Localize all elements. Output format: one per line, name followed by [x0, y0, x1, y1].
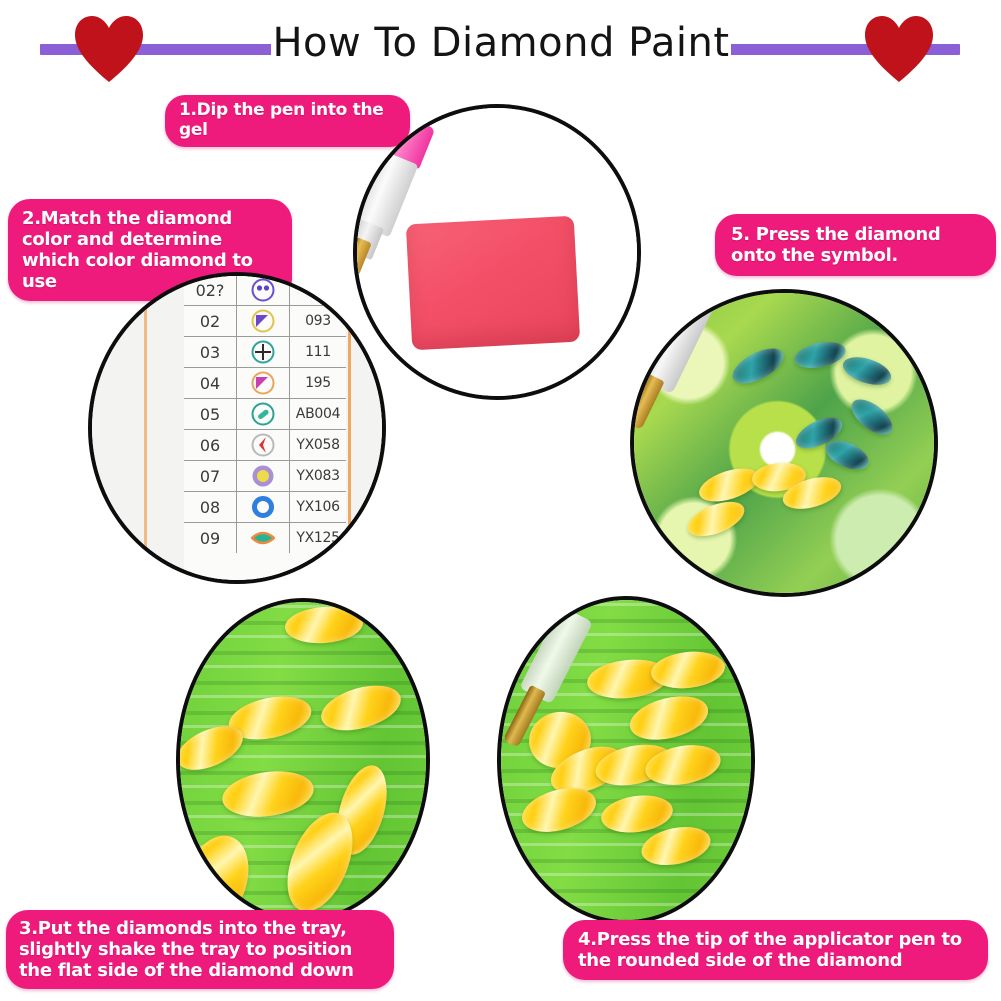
color-chart-row: 02?028 — [184, 274, 346, 305]
open-ring-symbol — [237, 492, 290, 522]
chart-number: 08 — [184, 492, 237, 522]
step-2-photo: 02?02802093031110419505AB00406YX05807YX0… — [88, 272, 386, 584]
chart-code: YX083 — [290, 468, 346, 484]
chart-code: 195 — [290, 375, 346, 391]
chart-number: 07 — [184, 461, 237, 491]
heart-icon — [72, 14, 146, 84]
step-5-photo — [630, 289, 938, 597]
chart-code: 093 — [290, 313, 346, 329]
chart-code: 028 — [290, 282, 346, 298]
chart-code: YX106 — [290, 499, 346, 515]
infographic-canvas: How To Diamond Paint 1.Dip the pen into … — [0, 0, 1001, 1001]
left-arrow-symbol — [237, 430, 290, 460]
gel-pad — [406, 216, 580, 351]
color-chart-row: 02093 — [184, 305, 346, 336]
plus-cross-symbol — [237, 337, 290, 367]
step-1-photo — [353, 104, 641, 400]
chart-code: AB004 — [290, 406, 346, 422]
chart-number: 02 — [184, 306, 237, 336]
chart-code: 111 — [290, 344, 346, 360]
page-title: How To Diamond Paint — [271, 18, 731, 68]
filled-dot-symbol — [237, 461, 290, 491]
color-chart-row: 03111 — [184, 336, 346, 367]
chart-number: 05 — [184, 399, 237, 429]
chart-number: 02? — [184, 275, 237, 305]
step-4-photo — [497, 596, 755, 924]
heart-icon — [862, 14, 936, 84]
chart-number: 09 — [184, 523, 237, 553]
chart-code: YX058 — [290, 437, 346, 453]
step-3-photo — [176, 598, 430, 922]
diagonal-capsule-symbol — [237, 399, 290, 429]
step-4-label: 4.Press the tip of the applicator pen to… — [563, 920, 988, 980]
color-chart-row: 06YX058 — [184, 429, 346, 460]
quarter-triangle-symbol — [237, 368, 290, 398]
color-chart-row: 07YX083 — [184, 460, 346, 491]
step-5-label: 5. Press the diamond onto the symbol. — [715, 214, 996, 276]
color-chart-row: 04195 — [184, 367, 346, 398]
color-chart-row: 09YX125 — [184, 522, 346, 553]
quarter-triangle-symbol — [237, 306, 290, 336]
color-chart-row: 08YX106 — [184, 491, 346, 522]
leaf-lens-symbol — [237, 523, 290, 553]
double-dot-circle-symbol — [237, 275, 290, 305]
chart-number: 03 — [184, 337, 237, 367]
chart-number: 06 — [184, 430, 237, 460]
color-chart-row: 05AB004 — [184, 398, 346, 429]
step-3-label: 3.Put the diamonds into the tray, slight… — [6, 910, 394, 989]
chart-code: YX125 — [290, 530, 346, 546]
chart-number: 04 — [184, 368, 237, 398]
